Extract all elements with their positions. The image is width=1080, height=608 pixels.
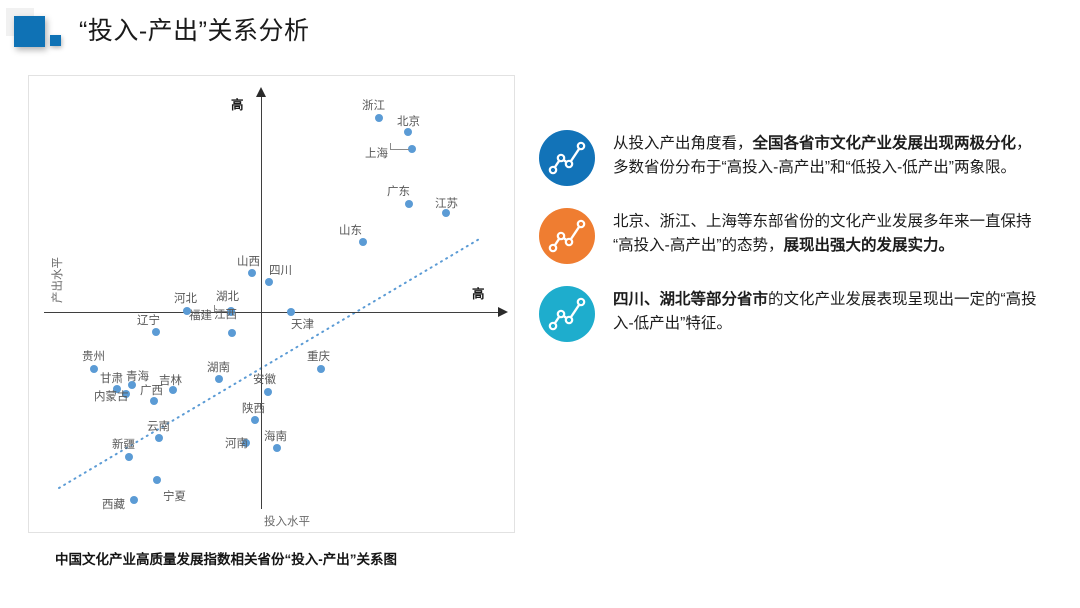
data-point-label-湖北: 湖北 (216, 288, 239, 304)
line-chart-circle-icon (539, 208, 595, 264)
page-title: “投入-产出”关系分析 (79, 11, 309, 47)
data-point-label-上海: 上海 (365, 145, 388, 161)
data-point-宁夏[interactable] (153, 476, 161, 484)
data-point-广东[interactable] (405, 200, 413, 208)
data-point-label-浙江: 浙江 (362, 97, 385, 113)
data-point-label-福建: 福建 (189, 307, 212, 323)
decor-square-large (14, 16, 45, 47)
data-point-label-新疆: 新疆 (112, 436, 135, 452)
data-point-label-山西: 山西 (237, 253, 260, 269)
data-point-label-贵州: 贵州 (82, 348, 105, 364)
data-point-海南[interactable] (273, 444, 281, 452)
scatter-plot: 高 高 投入水平 产出水平 浙江北京上海广东江苏山东山西四川湖北福建河北天津江西… (29, 76, 516, 534)
insight-item-1: 从投入产出角度看，全国各省市文化产业发展出现两极分化，多数省份分布于“高投入-高… (539, 130, 1059, 186)
data-point-河北[interactable] (183, 307, 191, 315)
insight-2-segment-2: 展现出强大的发展实力。 (784, 237, 955, 254)
insight-text-1: 从投入产出角度看，全国各省市文化产业发展出现两极分化，多数省份分布于“高投入-高… (613, 130, 1043, 179)
slide-header: “投入-产出”关系分析 (0, 0, 1080, 68)
data-point-label-河南: 河南 (225, 435, 248, 451)
line-chart-circle-icon (539, 286, 595, 342)
data-point-label-四川: 四川 (269, 262, 292, 278)
data-point-label-河北: 河北 (174, 290, 197, 306)
data-point-label-广东: 广东 (387, 183, 410, 199)
chart-caption: 中国文化产业高质量发展指数相关省份“投入-产出”关系图 (55, 548, 397, 568)
data-point-云南[interactable] (155, 434, 163, 442)
insight-text-3: 四川、湖北等部分省市的文化产业发展表现呈现出一定的“高投入-低产出”特征。 (613, 286, 1043, 335)
data-point-label-辽宁: 辽宁 (137, 312, 160, 328)
data-point-北京[interactable] (404, 128, 412, 136)
x-axis-line (44, 312, 504, 313)
insight-text-2: 北京、浙江、上海等东部省份的文化产业发展多年来一直保持“高投入-高产出”的态势，… (613, 208, 1043, 257)
data-point-label-江西: 江西 (214, 306, 237, 322)
data-point-label-甘肃: 甘肃 (100, 370, 123, 386)
data-point-辽宁[interactable] (152, 328, 160, 336)
data-point-江西[interactable] (228, 329, 236, 337)
insight-panel: 从投入产出角度看，全国各省市文化产业发展出现两极分化，多数省份分布于“高投入-高… (539, 130, 1059, 364)
data-point-label-西藏: 西藏 (102, 496, 125, 512)
data-point-浙江[interactable] (375, 114, 383, 122)
data-point-label-重庆: 重庆 (307, 348, 330, 364)
leader-line-上海 (390, 143, 409, 150)
insight-1-segment-2: 全国各省市文化产业发展出现两极分化 (753, 135, 1017, 152)
insight-item-3: 四川、湖北等部分省市的文化产业发展表现呈现出一定的“高投入-低产出”特征。 (539, 286, 1059, 342)
y-axis-title: 产出水平 (49, 250, 65, 310)
x-axis-arrow-icon (498, 307, 508, 317)
data-point-天津[interactable] (287, 308, 295, 316)
data-point-湖南[interactable] (215, 375, 223, 383)
y-axis-line (261, 94, 262, 509)
data-point-重庆[interactable] (317, 365, 325, 373)
data-point-label-天津: 天津 (291, 316, 314, 332)
data-point-label-宁夏: 宁夏 (163, 488, 186, 504)
data-point-陕西[interactable] (251, 416, 259, 424)
insight-item-2: 北京、浙江、上海等东部省份的文化产业发展多年来一直保持“高投入-高产出”的态势，… (539, 208, 1059, 264)
data-point-label-湖南: 湖南 (207, 359, 230, 375)
data-point-贵州[interactable] (90, 365, 98, 373)
x-axis-title: 投入水平 (264, 513, 310, 529)
data-point-上海[interactable] (408, 145, 416, 153)
decor-square-small (50, 35, 61, 46)
data-point-四川[interactable] (265, 278, 273, 286)
data-point-新疆[interactable] (125, 453, 133, 461)
data-point-label-陕西: 陕西 (242, 400, 265, 416)
data-point-山东[interactable] (359, 238, 367, 246)
data-point-label-山东: 山东 (339, 222, 362, 238)
x-axis-high-label: 高 (472, 283, 485, 302)
y-axis-arrow-icon (256, 87, 266, 97)
insight-3-segment-1: 四川、湖北等部分省市 (613, 291, 768, 308)
y-axis-high-label: 高 (231, 94, 244, 113)
data-point-label-北京: 北京 (397, 113, 420, 129)
data-point-label-江苏: 江苏 (435, 195, 458, 211)
data-point-label-广西: 广西 (140, 382, 163, 398)
data-point-label-海南: 海南 (264, 428, 287, 444)
insight-1-segment-1: 从投入产出角度看， (613, 135, 753, 152)
data-point-label-云南: 云南 (147, 418, 170, 434)
trend-line (29, 76, 516, 534)
line-chart-circle-icon (539, 130, 595, 186)
data-point-安徽[interactable] (264, 388, 272, 396)
chart-card: 高 高 投入水平 产出水平 浙江北京上海广东江苏山东山西四川湖北福建河北天津江西… (28, 75, 515, 533)
data-point-山西[interactable] (248, 269, 256, 277)
data-point-广西[interactable] (150, 397, 158, 405)
data-point-label-内蒙古: 内蒙古 (94, 388, 129, 404)
data-point-西藏[interactable] (130, 496, 138, 504)
data-point-label-安徽: 安徽 (253, 371, 276, 387)
